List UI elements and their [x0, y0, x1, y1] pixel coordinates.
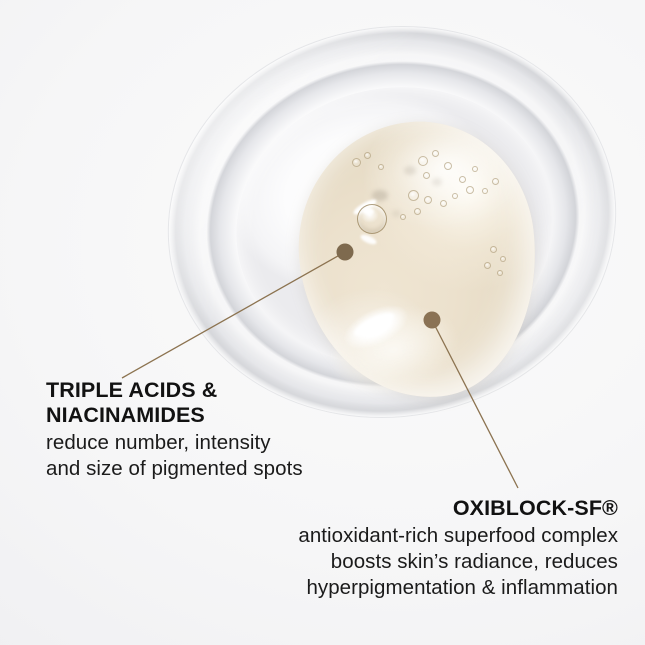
serum-bubble	[472, 166, 478, 172]
serum-bubble	[400, 214, 406, 220]
callout-heading-oxiblock: OXIBLOCK-SF®	[298, 496, 618, 521]
callout-text-oxiblock: OXIBLOCK-SF® antioxidant-rich superfood …	[298, 496, 618, 601]
callout-body-triple-acids: reduce number, intensity and size of pig…	[46, 430, 303, 482]
callout-body-oxiblock: antioxidant-rich superfood complex boost…	[298, 523, 618, 601]
serum-bubble	[424, 196, 432, 204]
callout-heading-triple-acids: TRIPLE ACIDS & NIACINAMIDES	[46, 378, 303, 428]
serum-bubble	[423, 172, 430, 179]
serum-bubble	[482, 188, 488, 194]
product-ingredient-infographic: TRIPLE ACIDS & NIACINAMIDES reduce numbe…	[0, 0, 645, 645]
serum-bubble	[378, 164, 384, 170]
serum-bubble	[484, 262, 491, 269]
serum-bubble	[490, 246, 497, 253]
serum-bubble	[440, 200, 447, 207]
serum-bubble	[414, 208, 421, 215]
serum-bubble	[452, 193, 458, 199]
serum-bubble	[364, 152, 371, 159]
callout-text-triple-acids: TRIPLE ACIDS & NIACINAMIDES reduce numbe…	[46, 378, 303, 482]
serum-bubble	[459, 176, 466, 183]
serum-fleck	[404, 166, 416, 175]
serum-bubble	[432, 150, 439, 157]
serum-bubble	[444, 162, 452, 170]
serum-bubble	[466, 186, 474, 194]
serum-bubble	[492, 178, 499, 185]
serum-bubble	[408, 190, 419, 201]
serum-bubble	[418, 156, 428, 166]
serum-bubble	[500, 256, 506, 262]
serum-fleck	[432, 178, 442, 186]
serum-bubble	[497, 270, 503, 276]
serum-large-bubble	[357, 204, 387, 234]
serum-bubble	[352, 158, 361, 167]
